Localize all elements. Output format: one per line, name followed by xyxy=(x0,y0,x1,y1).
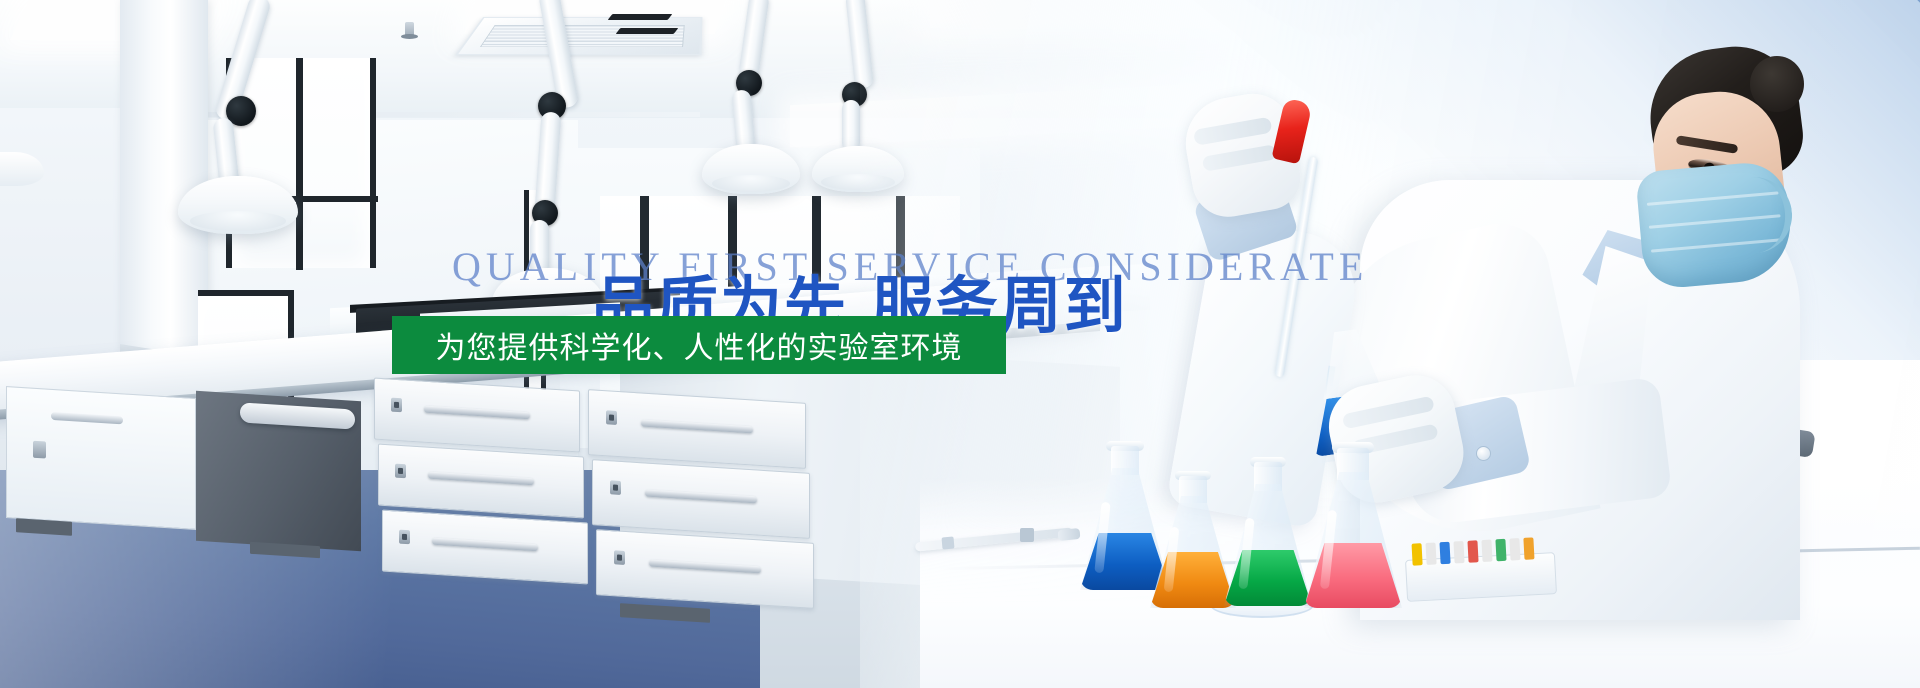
banner-copy: QUALITY FIRST SERVICE CONSIDERATE 品质为先 服… xyxy=(0,0,1920,688)
hero-banner: QUALITY FIRST SERVICE CONSIDERATE 品质为先 服… xyxy=(0,0,1920,688)
banner-subtitle-text: 为您提供科学化、人性化的实验室环境 xyxy=(436,323,963,367)
banner-subtitle-bar: 为您提供科学化、人性化的实验室环境 xyxy=(392,316,1006,374)
